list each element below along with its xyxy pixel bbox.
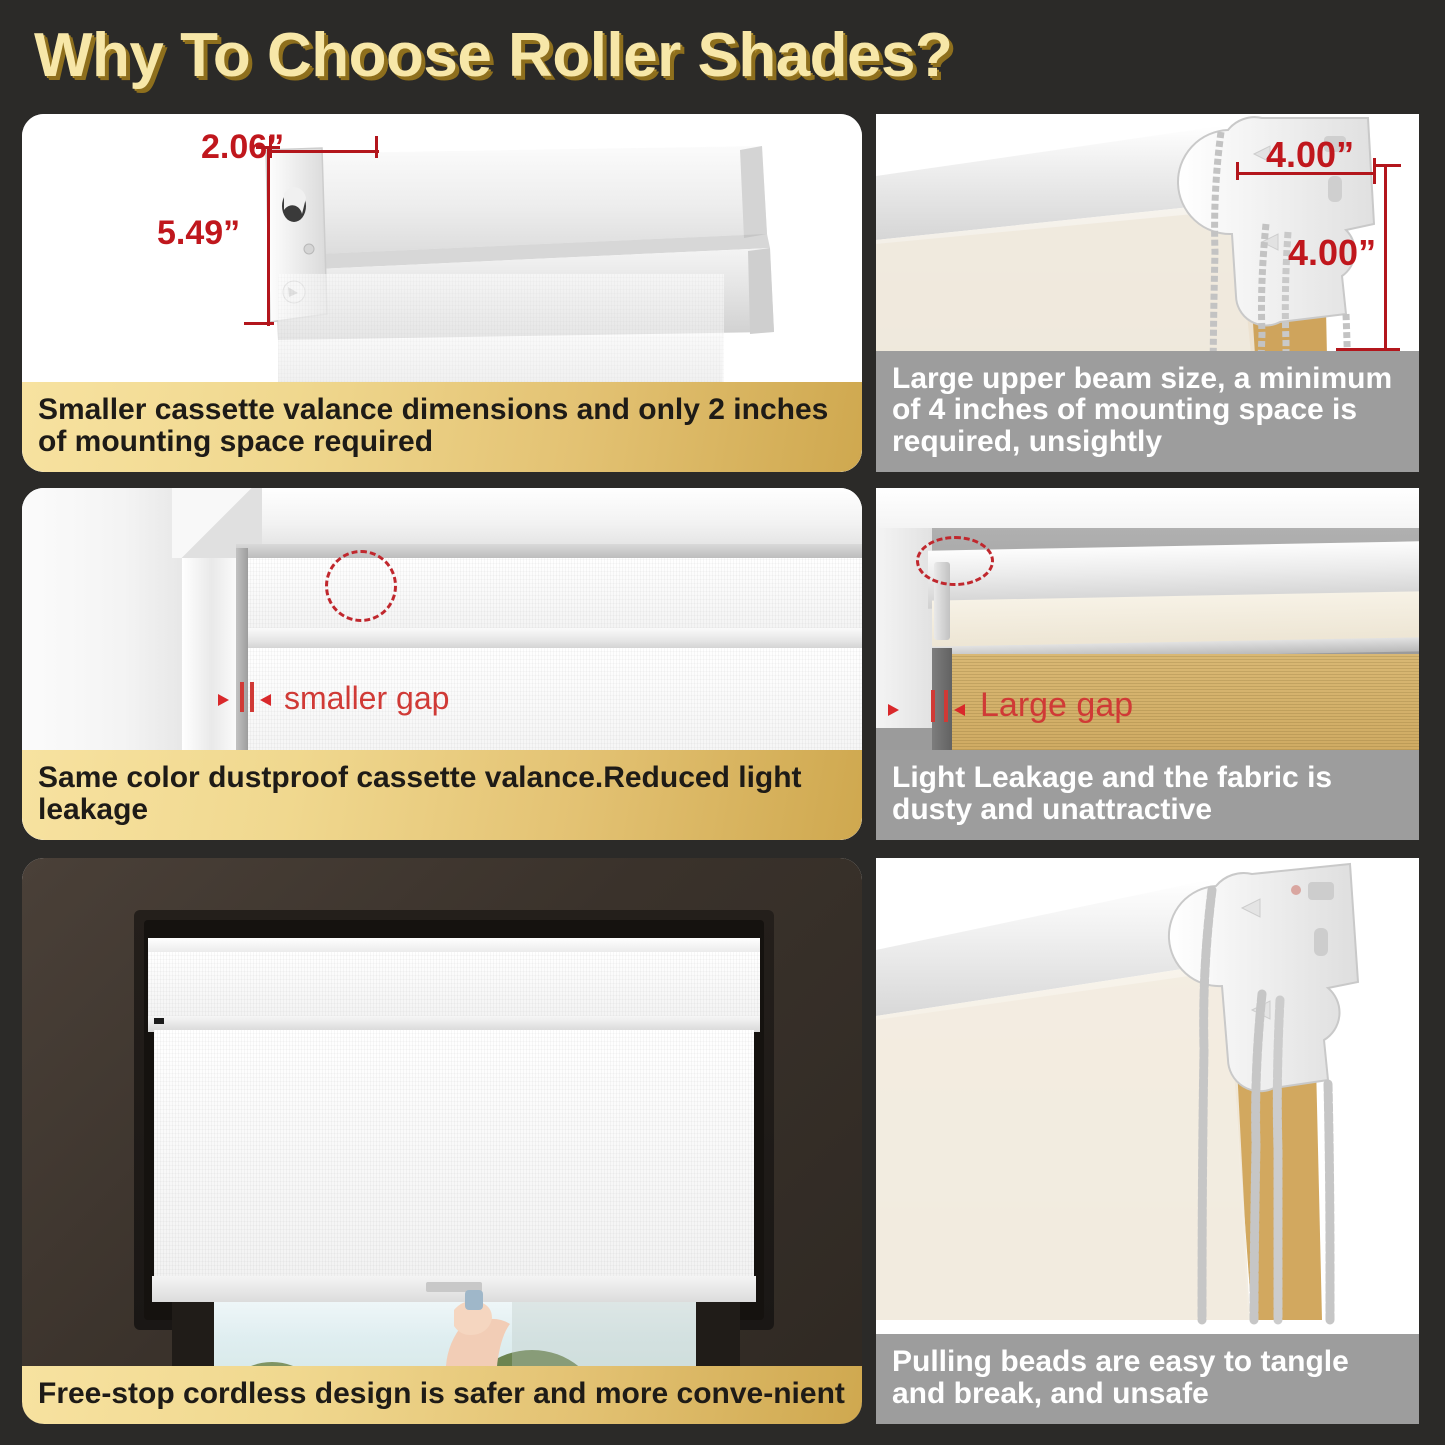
panel-pro-cordless-design: Free-stop cordless design is safer and m… [22,858,862,1424]
gap-callout-label: Large gap [980,686,1133,725]
panel-con-pulling-beads: Pulling beads are easy to tangle and bre… [876,858,1419,1424]
hand-illustration [22,858,862,1424]
infographic-root: Why To Choose Roller Shades? [0,0,1445,1445]
panel-pro-cassette-dimensions: 2.06” 5.49” Smaller cassette valance dim… [22,114,862,472]
beam-height-label: 4.00” [1288,232,1376,274]
height-dimension-tick-top [256,146,280,149]
beam-width-tick-left [1236,162,1239,180]
gap-arrow-right [260,694,271,706]
panel-caption: Pulling beads are easy to tangle and bre… [876,1334,1419,1424]
panel-con-large-gap: Large gap Light Leakage and the fabric i… [876,488,1419,840]
height-dimension-line [267,146,270,326]
gap-marker-2 [250,682,254,712]
gap-arrow-left [218,694,229,706]
beam-width-label: 4.00” [1266,134,1354,176]
width-dimension-line [269,150,379,153]
shade-roller-bar [236,628,862,650]
window-frame-top [182,488,862,548]
height-dimension-label: 5.49” [157,214,240,253]
panel-caption: Free-stop cordless design is safer and m… [22,1366,862,1424]
gap-marker-2 [944,690,948,722]
panel-caption: Same color dustproof cassette valance.Re… [22,750,862,840]
gap-arrow-left [888,704,899,716]
width-dimension-tick-right [375,136,378,158]
gap-marker-1 [240,682,244,712]
gap-callout-label: smaller gap [284,680,449,717]
gap-marker-1 [931,690,935,722]
roller-shade-beads-illustration [876,858,1419,1338]
panel-caption: Light Leakage and the fabric is dusty an… [876,750,1419,840]
beam-height-line [1384,164,1387,350]
panel-grid: 2.06” 5.49” Smaller cassette valance dim… [0,0,1445,1445]
shade-side-rail [236,548,248,784]
panel-caption: Large upper beam size, a minimum of 4 in… [876,351,1419,472]
panel-caption: Smaller cassette valance dimensions and … [22,382,862,472]
highlight-ellipse [325,550,397,622]
highlight-ellipse [916,536,994,586]
panel-pro-smaller-gap: smaller gap Same color dustproof cassett… [22,488,862,840]
beam-height-tick-top [1373,164,1401,167]
height-dimension-tick-bottom [244,322,274,325]
panel-con-upper-beam-size: 4.00” 4.00” Large upper beam size, a min… [876,114,1419,472]
gap-arrow-right [954,704,965,716]
beam-width-tick-right [1373,158,1376,184]
cassette-headrail [236,544,862,558]
photo-window-scene [22,858,862,1424]
